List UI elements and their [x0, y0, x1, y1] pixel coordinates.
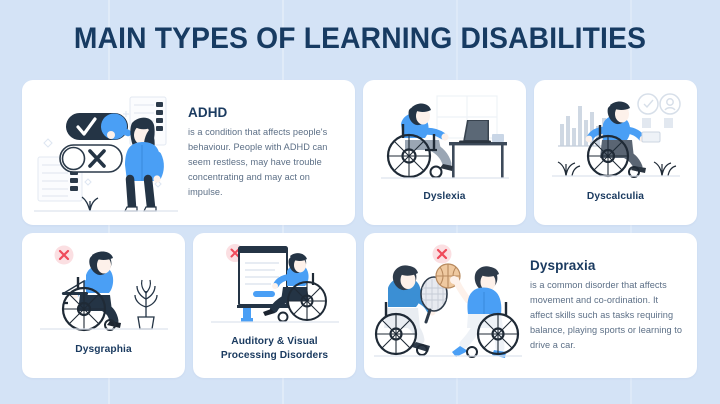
- card-auditory-visual[interactable]: Auditory & Visual Processing Disorders: [193, 233, 356, 378]
- whiteboard-icon: [237, 247, 289, 322]
- card-dyspraxia[interactable]: Dyspraxia is a common disorder that affe…: [364, 233, 697, 378]
- desk-icon: [449, 142, 507, 178]
- auditory-visual-illustration: [209, 241, 341, 329]
- dyscalculia-illustration: [550, 88, 682, 184]
- auditory-visual-caption-line-2: Processing Disorders: [221, 349, 328, 363]
- card-adhd[interactable]: ADHD is a condition that affects people'…: [22, 80, 355, 225]
- dyspraxia-copy: Dyspraxia is a common disorder that affe…: [524, 258, 685, 353]
- dysgraphia-caption: Dysgraphia: [75, 343, 131, 357]
- card-dyscalculia[interactable]: Dyscalculia: [534, 80, 697, 225]
- laptop-icon: [459, 120, 491, 143]
- mini-bars: [642, 118, 673, 128]
- toggle-off-cross-icon: [60, 145, 122, 172]
- adhd-illustration: [30, 89, 182, 217]
- card-grid-row-2: Dysgraphia: [22, 233, 698, 378]
- card-dyslexia[interactable]: Dyslexia: [363, 80, 526, 225]
- dyspraxia-body: is a common disorder that affects moveme…: [530, 278, 683, 353]
- infographic-page: MAIN TYPES OF LEARNING DISABILITIES: [0, 0, 720, 404]
- dysgraphia-illustration: [38, 241, 170, 337]
- dyscalculia-caption: Dyscalculia: [587, 190, 644, 204]
- adhd-copy: ADHD is a condition that affects people'…: [182, 105, 343, 200]
- dyspraxia-illustration: [372, 242, 524, 370]
- auditory-visual-caption-line-1: Auditory & Visual: [221, 335, 328, 349]
- adhd-body: is a condition that affects people's beh…: [188, 125, 341, 200]
- auditory-visual-caption: Auditory & Visual Processing Disorders: [221, 335, 328, 363]
- dyslexia-illustration: [379, 88, 511, 184]
- card-dysgraphia[interactable]: Dysgraphia: [22, 233, 185, 378]
- page-title-bar: MAIN TYPES OF LEARNING DISABILITIES: [0, 22, 720, 56]
- card-grid-row-1: ADHD is a condition that affects people'…: [22, 80, 698, 225]
- page-title: MAIN TYPES OF LEARNING DISABILITIES: [22, 22, 699, 56]
- dyslexia-caption: Dyslexia: [423, 190, 465, 204]
- toggle-on-check-icon: [66, 113, 128, 140]
- potted-plant-icon: [135, 280, 157, 329]
- plant-icon: [82, 197, 98, 211]
- circle-badge-icons: [638, 94, 680, 114]
- dyspraxia-heading: Dyspraxia: [530, 258, 683, 273]
- adhd-heading: ADHD: [188, 105, 341, 120]
- red-cross-badge-icon: [54, 246, 73, 265]
- red-cross-badge-icon: [433, 244, 452, 263]
